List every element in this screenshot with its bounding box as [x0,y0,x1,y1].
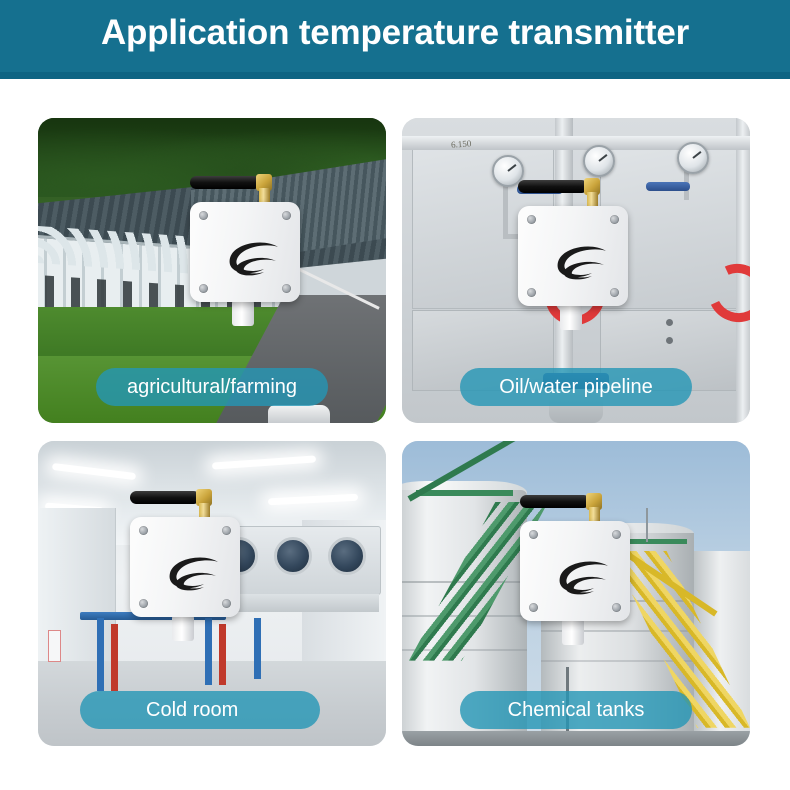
caption-label: Cold room [146,699,238,722]
handwritten-marking: 6.150 [450,139,471,150]
panel-caption-oil-water-pipeline: Oil/water pipeline [460,368,692,406]
application-panel-grid: agricultural/farming 6.150 [38,118,750,746]
blue-valve-handle [646,182,690,191]
antenna-mast [646,508,648,542]
application-panel-cold-room[interactable]: Cold room [38,441,386,746]
air-duct [219,594,379,612]
application-panel-chemical-tanks[interactable]: Chemical tanks [402,441,750,746]
evaporator-unit [205,526,381,595]
tank-walkway [416,490,513,496]
tank-walkway [597,539,687,544]
equipment-panel [412,149,553,310]
fan-icon [274,537,312,575]
ground [402,731,750,746]
blue-pipe [97,618,104,691]
caption-label: Chemical tanks [508,699,645,722]
application-panel-oil-water-pipeline[interactable]: 6.150 [402,118,750,423]
fan-icon [328,537,366,575]
caption-label: Oil/water pipeline [499,376,652,399]
caption-label: agricultural/farming [127,376,297,399]
blue-pipe [205,618,212,685]
header-underline [0,72,790,79]
blue-pipe [254,618,261,679]
panel-caption-agricultural-farming: agricultural/farming [96,368,328,406]
pressure-gauge-icon [492,155,524,187]
parked-car [268,405,330,423]
red-pipe [219,624,226,685]
red-pipe [111,624,118,691]
application-panel-agricultural-farming[interactable]: agricultural/farming [38,118,386,423]
panel-caption-cold-room: Cold room [80,691,320,729]
fan-icon [220,537,258,575]
panel-caption-chemical-tanks: Chemical tanks [460,691,692,729]
wall-sign [48,630,61,662]
page-title: Application temperature transmitter [0,13,790,53]
pipe-segment [503,234,559,239]
blue-valve-handle [517,185,563,194]
